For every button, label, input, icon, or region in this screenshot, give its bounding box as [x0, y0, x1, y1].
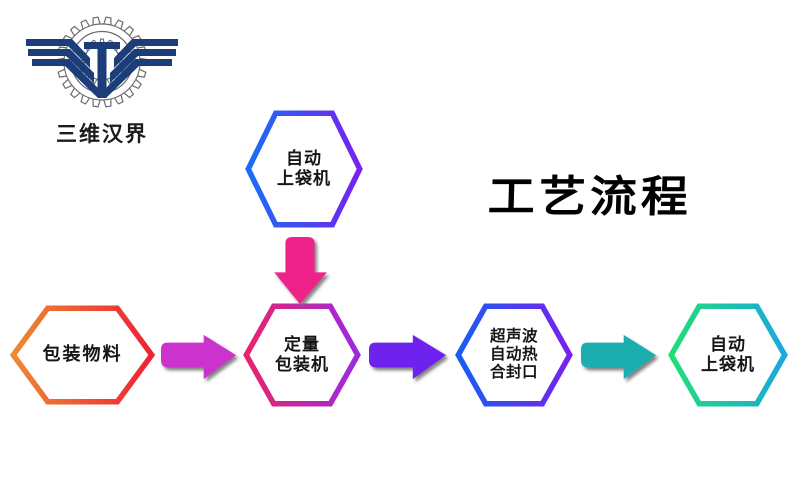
hex-node-automatic-bag-loader-top[interactable]: 自动 上袋机 [245, 110, 363, 228]
arrow-bag-loader-to-packer [272, 236, 328, 306]
company-name: 三维汉界 [22, 118, 182, 148]
arrow-packer-to-sealer [368, 333, 448, 381]
gear-wings-logo-icon [22, 12, 182, 117]
hex-node-packaging-material[interactable]: 包装物料 [10, 305, 155, 405]
hex-node-ultrasonic-heat-sealing-machine[interactable]: 超声波 自动热 合封口 [455, 303, 573, 407]
hex-node-quantitative-packaging-machine[interactable]: 定量 包装机 [243, 303, 361, 407]
page-title: 工艺流程 [469, 161, 711, 224]
company-logo: 三维汉界 [22, 12, 182, 152]
flow-diagram-canvas: 三维汉界 工艺流程 包装物料 自动 上袋机 定量 包装机 超声波 自动热 合封口 [0, 0, 800, 500]
arrow-sealer-to-bag-loader [580, 333, 658, 381]
hex-node-automatic-bag-loader-end[interactable]: 自动 上袋机 [668, 303, 788, 407]
arrow-material-to-packer [160, 333, 238, 381]
